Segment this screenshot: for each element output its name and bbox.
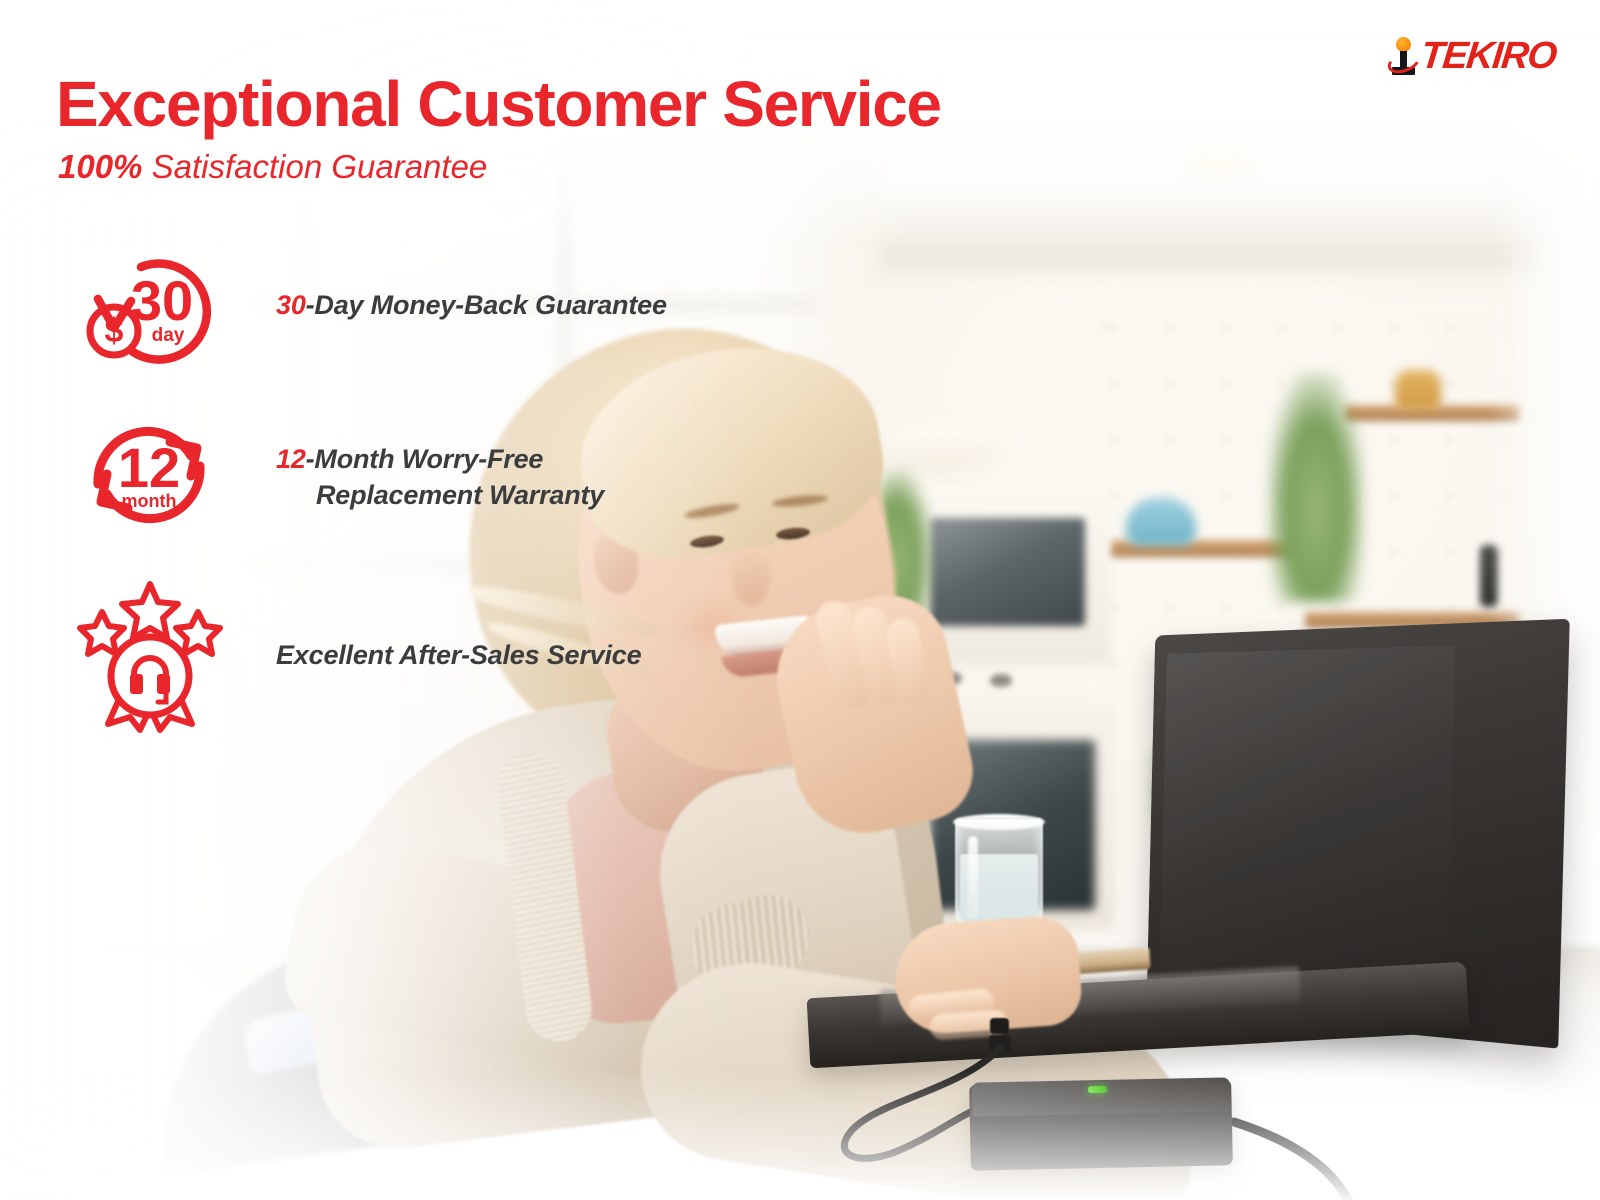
feature-highlight: 30 (276, 290, 306, 320)
subtitle-percent: 100% (58, 148, 142, 185)
svg-text:30: 30 (131, 269, 193, 332)
page-subtitle: 100% Satisfaction Guarantee (58, 148, 487, 186)
money-back-svg: $ 30 day (78, 240, 248, 392)
page-title: Exceptional Customer Service (56, 72, 941, 136)
tekiro-torch-icon (1388, 36, 1418, 76)
after-sales-service-badge-headset-stars-icon (78, 578, 248, 730)
feature-money-back: $ 30 day 30-Day Money-Back Guarantee (78, 240, 248, 392)
feature-highlight: 12 (276, 444, 306, 474)
feature-after-sales: Excellent After-Sales Service (78, 578, 248, 730)
logo-wordmark: TEKIRO (1419, 37, 1558, 75)
svg-text:day: day (152, 325, 185, 346)
subtitle-rest: Satisfaction Guarantee (142, 148, 487, 185)
svg-text:month: month (122, 491, 177, 511)
tekiro-logo: TEKIRO (1388, 36, 1556, 76)
feature-money-back-label: 30-Day Money-Back Guarantee (276, 288, 667, 324)
feature-label-line2: Replacement Warranty (276, 478, 604, 514)
feature-label-rest: -Day Money-Back Guarantee (306, 290, 667, 320)
feature-warranty-label: 12-Month Worry-FreeReplacement Warranty (276, 442, 604, 513)
svg-text:$: $ (105, 312, 124, 350)
feature-warranty: 12 month 12-Month Worry-FreeReplacement … (78, 400, 248, 552)
feature-label-rest: -Month Worry-Free (306, 444, 544, 474)
warranty-svg: 12 month (78, 400, 248, 552)
poster-content: TEKIRO Exceptional Customer Service 100%… (0, 0, 1600, 1200)
after-sales-svg (78, 578, 248, 730)
feature-after-sales-label: Excellent After-Sales Service (276, 638, 641, 674)
poster-canvas: TEKIRO Exceptional Customer Service 100%… (0, 0, 1600, 1200)
svg-text:12: 12 (118, 436, 180, 499)
12-month-replacement-cycle-arrows-icon: 12 month (78, 400, 248, 552)
30-day-money-back-circular-arrow-icon: $ 30 day (78, 240, 248, 392)
